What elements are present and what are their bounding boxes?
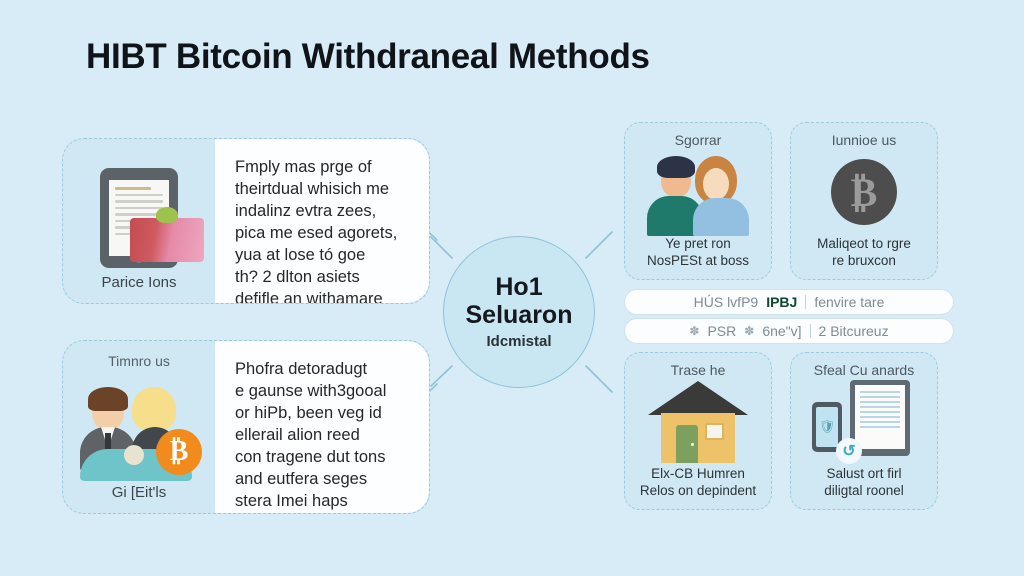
text-line: and eutfera seges [235,469,413,491]
banner-row-1[interactable]: HÚS lvfP9 IPBJ fenvire tare [624,289,954,315]
banner-2-glyph-a-icon: ✽ [689,324,699,338]
page-title: HIBT Bitcoin Withdraneal Methods [86,37,650,77]
hand-shape [124,445,144,465]
person-female-hair [132,387,176,431]
bitcoin-coin-icon: ₿ [156,429,202,475]
right-card-2-subtitle: Maliqeot to rgre re bruxcon [817,236,911,271]
banner-2-strong-text: 6ne"v] [762,323,801,339]
right-card-1-title: Sgorrar [675,133,722,148]
text-line: re bruxcon [817,253,911,269]
avatar-female-body [693,198,749,236]
avatar-male-hair [657,156,695,178]
left-card-2-caption: Gi [Eit'ls [63,484,215,501]
text-line: Ye pret ron [647,236,749,252]
text-line: pica me esed agorets, [235,223,413,245]
gift-blob-icon [130,218,204,262]
documents-phone-sync-icon: 🛡 ↺ [812,380,916,464]
tablet-document-icon [100,168,178,268]
text-line: Fmply mas prge of [235,157,413,179]
left-card-2[interactable]: Timnro us ₿ Gi [Eit'ls Phofra detoradugt… [62,340,430,514]
right-card-4-title: Sfeal Cu anards [814,363,914,378]
text-line: defifle an withamare [235,289,413,304]
right-card-4[interactable]: Sfeal Cu anards 🛡 ↺ Salust ort firl dili… [790,352,938,510]
people-bitcoin-icon: ₿ [74,377,204,481]
right-card-3[interactable]: Trase he Elx-CB Humren Relos on depinden… [624,352,772,510]
infographic-canvas: HIBT Bitcoin Withdraneal Methods Parice … [0,0,1024,576]
banner-1-left-text: HÚS lvfP9 [694,294,759,310]
banner-row-2[interactable]: ✽ PSR ✽ 6ne"v] 2 Bitcureuz [624,318,954,344]
banner-2-glyph-b-icon: ✽ [744,324,754,338]
center-node-line2: Seluaron [466,301,573,329]
right-card-2-title: Iunnioe us [832,133,897,148]
left-card-1-caption: Parice Ions [63,274,215,291]
banner-1-divider [805,295,806,309]
text-line: Salust ort firl [824,466,904,482]
text-line: con tragene dut tons [235,447,413,469]
right-card-3-art [631,378,765,466]
bitcoin-dark-coin-icon: ₿ [831,159,897,225]
document-sheet [855,385,905,449]
text-line: NosPESt at boss [647,253,749,269]
text-line: or hiPb, been veg id [235,403,413,425]
banner-1-strong-text: IPBJ [766,294,797,310]
person-male-hair [88,387,128,411]
right-card-1-art [631,148,765,236]
house-door [676,425,698,463]
text-line: e gaunse with3gooal [235,381,413,403]
right-card-1[interactable]: Sgorrar Ye pret ron NosPESt at boss [624,122,772,280]
right-card-2-art: ₿ [797,148,931,236]
left-card-2-text: Phofra detoradugt e gaunse with3gooal or… [215,341,429,513]
banner-2-divider [810,324,811,338]
right-card-3-subtitle: Elx-CB Humren Relos on depindent [640,466,756,501]
house-icon [648,381,748,463]
banner-1-right-text: fenvire tare [814,294,884,310]
right-card-2[interactable]: Iunnioe us ₿ Maliqeot to rgre re bruxcon [790,122,938,280]
text-line: Maliqeot to rgre [817,236,911,252]
shield-icon: 🛡 [816,407,838,447]
center-node-line3: Idcmistal [486,333,551,350]
text-line: indalinz evtra zees, [235,201,413,223]
left-card-2-icon-area: Timnro us ₿ Gi [Eit'ls [63,341,215,513]
center-node-line1: Ho1 [495,274,542,300]
left-card-1-text: Fmply mas prge of theirtdual whisich me … [215,139,429,303]
left-card-1-icon-area: Parice Ions [63,139,215,303]
text-line: yua at lose tó goe [235,245,413,267]
text-line: th? 2 dlton asiets [235,267,413,289]
text-line: Relos on depindent [640,483,756,499]
text-line: diligtal roonel [824,483,904,499]
text-line: Phofra detoradugt [235,359,413,381]
banner-2-left-text: PSR [707,323,736,339]
right-card-4-art: 🛡 ↺ [797,378,931,466]
left-card-1[interactable]: Parice Ions Fmply mas prge of theirtdual… [62,138,430,304]
right-card-4-subtitle: Salust ort firl diligtal roonel [824,466,904,501]
text-line: ellerail alion reed [235,425,413,447]
right-card-3-title: Trase he [671,363,726,378]
center-node[interactable]: Ho1 Seluaron Idcmistal [443,236,595,388]
text-line: stera Imei haps [235,491,413,513]
text-line: Elx-CB Humren [640,466,756,482]
text-line: theirtdual whisich me [235,179,413,201]
house-window [705,423,724,440]
house-roof [648,381,748,415]
banner-2-right-text: 2 Bitcureuz [819,323,889,339]
refresh-sync-icon: ↺ [836,438,862,464]
couple-avatars-icon [639,148,757,236]
left-card-2-caption-top: Timnro us [63,353,215,369]
right-card-1-subtitle: Ye pret ron NosPESt at boss [647,236,749,271]
